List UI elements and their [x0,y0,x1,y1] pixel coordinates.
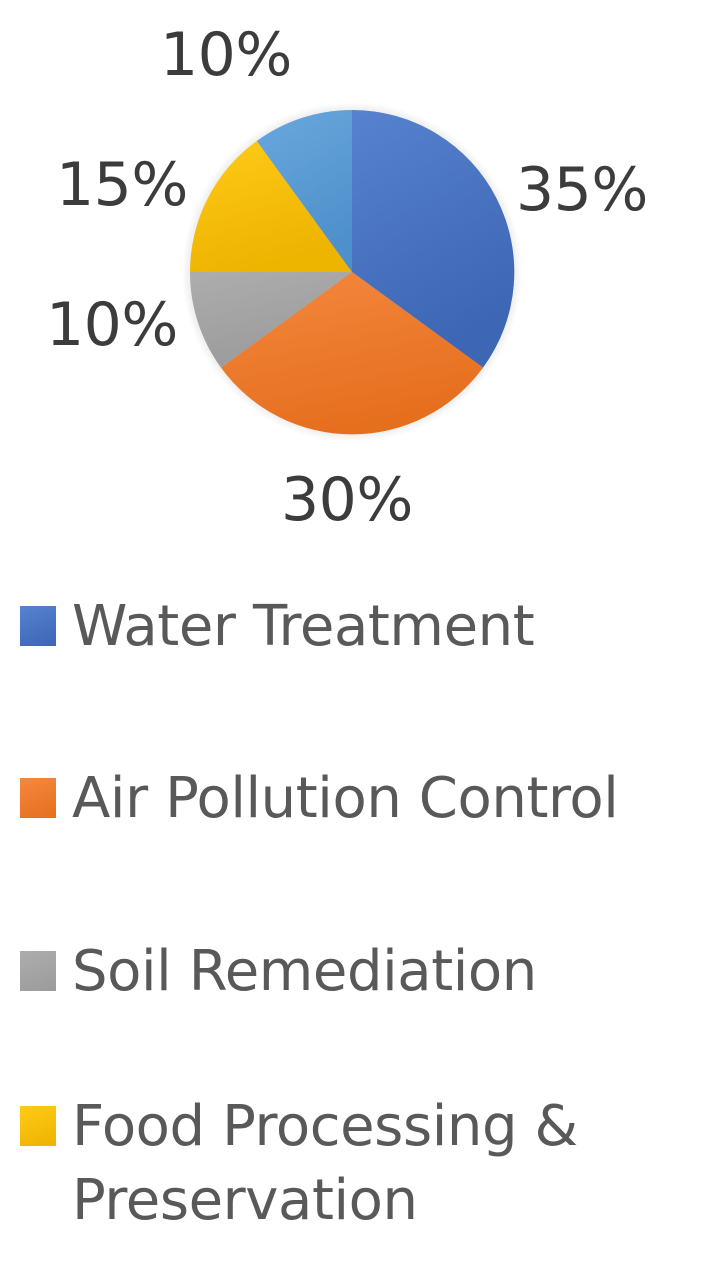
data-label-35-percent: 35% [516,160,648,220]
legend-swatch-icon [20,1106,56,1146]
data-label-30-percent: 30% [281,470,413,530]
legend-item-label: Air Pollution Control [72,762,618,836]
chart-legend: Water Treatment Air Pollution Control So… [0,560,721,1280]
data-label-10-percent-top: 10% [160,25,292,85]
legend-item-air-pollution-control[interactable]: Air Pollution Control [20,762,721,836]
pie-svg [190,110,514,434]
legend-item-label: Water Treatment [72,590,534,664]
legend-item-soil-remediation[interactable]: Soil Remediation [20,935,721,1009]
legend-item-food-processing-preservation[interactable]: Food Processing & Preservation [20,1090,721,1238]
data-label-10-percent-soil: 10% [46,295,178,355]
pie-chart-area: 35% 30% 10% 15% 10% [0,0,721,560]
legend-swatch-icon [20,951,56,991]
legend-item-label: Soil Remediation [72,935,537,1009]
legend-item-water-treatment[interactable]: Water Treatment [20,590,721,664]
legend-swatch-icon [20,778,56,818]
data-label-15-percent: 15% [56,155,188,215]
legend-item-label: Food Processing & Preservation [72,1090,578,1238]
legend-swatch-icon [20,606,56,646]
pie-graphic [190,110,514,434]
